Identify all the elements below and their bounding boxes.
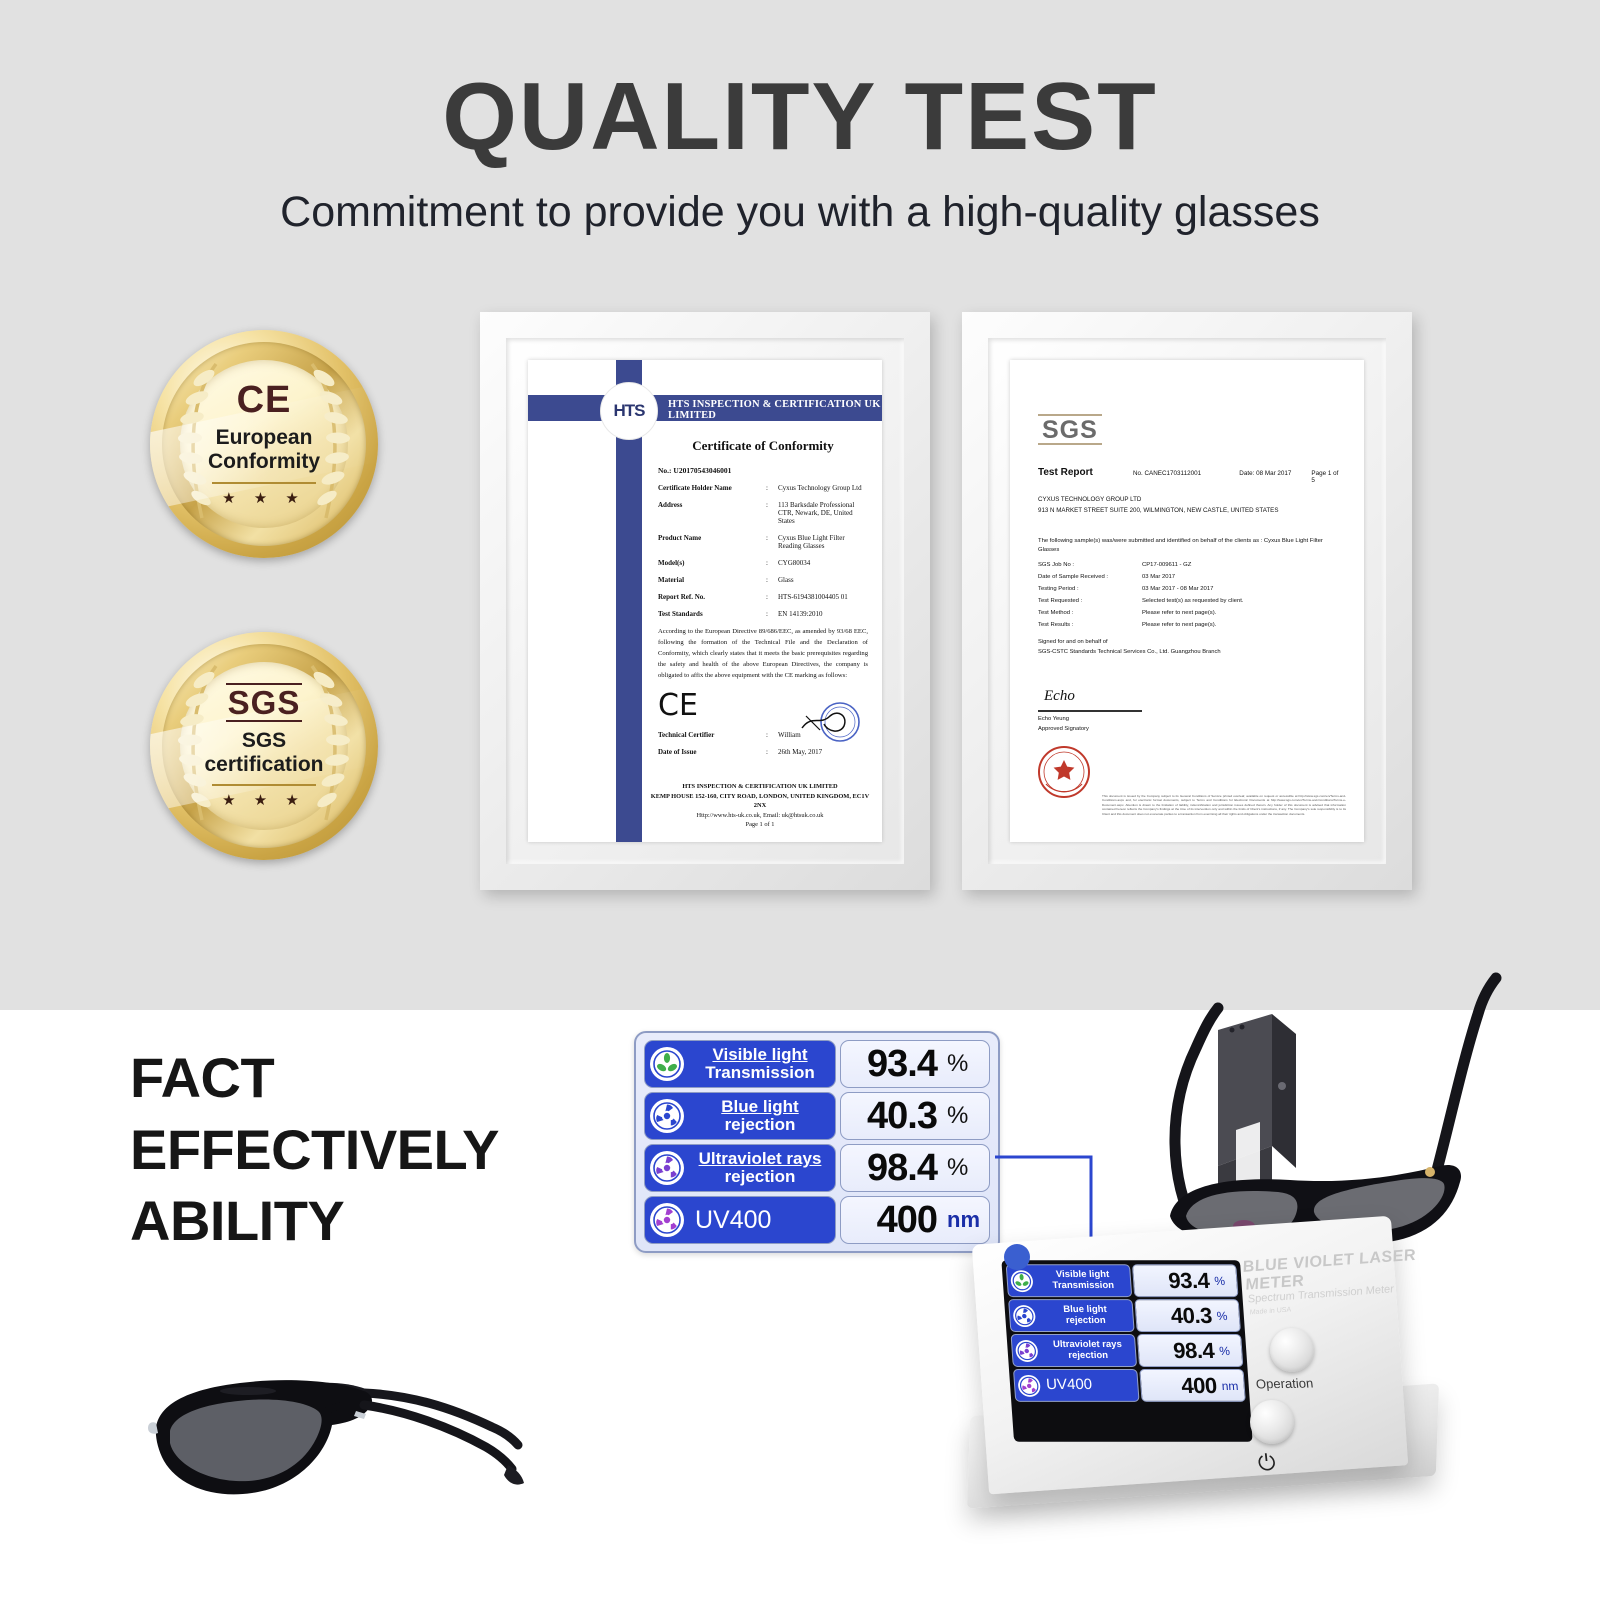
device-unit: %	[1219, 1344, 1238, 1358]
hts-number: No.: U20170543046001	[658, 466, 868, 475]
field-colon: :	[766, 484, 778, 492]
ce-badge-title: European Conformity	[182, 426, 347, 473]
field-colon: :	[766, 748, 778, 756]
sgs-field-row: Testing Period : 03 Mar 2017 - 08 Mar 20…	[1038, 586, 1342, 592]
hts-seal-icon: HTS	[600, 382, 658, 440]
top-section: QUALITY TEST Commitment to provide you w…	[0, 0, 1600, 1010]
sgs-logo-icon: SGS	[1038, 414, 1102, 445]
fact-line-3: ABILITY	[130, 1185, 499, 1257]
field-colon: :	[766, 534, 778, 550]
field-value: Cyxus Blue Light Filter Reading Glasses	[778, 534, 868, 550]
field-value: Cyxus Technology Group Ltd	[778, 484, 868, 492]
field-key: Date of Issue	[658, 748, 766, 756]
device-unit: nm	[1221, 1378, 1240, 1392]
device-label: Ultraviolet rays rejection	[1011, 1334, 1138, 1367]
field-colon: :	[766, 593, 778, 601]
readout-label-text: Blue light rejection	[689, 1098, 835, 1134]
device-label: UV400	[1013, 1369, 1140, 1402]
readout-label: UV400	[644, 1196, 836, 1244]
field-value: 03 Mar 2017 - 08 Mar 2017	[1142, 586, 1342, 592]
label-line-2: Transmission	[689, 1064, 831, 1082]
sgs-body: SGS Test Report No. CANEC1703112001 Date…	[1038, 414, 1342, 628]
footer-line: Http://www.hts-uk.co.uk, Email: uk@htsuk…	[648, 811, 872, 821]
device-value-cell: 93.4 %	[1132, 1264, 1239, 1297]
field-key: Test Requested :	[1038, 598, 1142, 604]
sgs-field-row: Test Requested : Selected test(s) as req…	[1038, 598, 1342, 604]
uv-ray-icon	[1015, 1340, 1039, 1362]
readout-row-blue-light: Blue light rejection 40.3 %	[644, 1092, 990, 1140]
sgs-report-frame: SGS Test Report No. CANEC1703112001 Date…	[962, 312, 1412, 890]
signature-stamp-icon	[800, 696, 864, 750]
device-label-text: Ultraviolet rays rejection	[1040, 1340, 1136, 1360]
hts-field-row: Material : Glass	[658, 576, 868, 584]
badge-divider	[212, 784, 316, 786]
frame-bevel: SGS Test Report No. CANEC1703112001 Date…	[988, 338, 1386, 864]
field-value: HTS-6194381004405 01	[778, 593, 868, 601]
sgs-report-paper: SGS Test Report No. CANEC1703112001 Date…	[1010, 360, 1364, 842]
readout-row-uv400: UV400 400 nm	[644, 1196, 990, 1244]
sgs-report-header: Test Report No. CANEC1703112001 Date: 08…	[1038, 467, 1342, 484]
label-line-2: Transmission	[1036, 1281, 1131, 1291]
readout-label: Blue light rejection	[644, 1092, 836, 1140]
field-value: 113 Barksdale Professional CTR, Newark, …	[778, 501, 868, 525]
device-label: Visible light Transmission	[1006, 1264, 1133, 1297]
readout-label-text: UV400	[689, 1207, 835, 1234]
footer-page: Page 1 of 1	[648, 820, 872, 830]
device-value: 98.4	[1172, 1338, 1215, 1364]
field-colon: :	[766, 501, 778, 525]
device-label-text: UV400	[1043, 1377, 1138, 1393]
field-key: Address	[658, 501, 766, 525]
glasses-product-photo	[120, 1335, 540, 1560]
badge-stars: ★ ★ ★	[222, 489, 306, 507]
field-key: Product Name	[658, 534, 766, 550]
field-value: Glass	[778, 576, 868, 584]
field-key: Technical Certifier	[658, 731, 766, 739]
signed-line: Signed for and on behalf of	[1038, 638, 1342, 648]
red-seal-stamp-icon	[1036, 744, 1092, 800]
fact-line-1: FACT	[130, 1042, 499, 1114]
blue-ray-icon	[650, 1099, 684, 1133]
sgs-intro: The following sample(s) was/were submitt…	[1038, 537, 1342, 556]
readout-value: 93.4	[867, 1045, 937, 1083]
device-value-cell: 98.4 %	[1137, 1334, 1244, 1367]
field-key: Test Results :	[1038, 622, 1142, 628]
sgs-field-row: Test Results : Please refer to next page…	[1038, 622, 1342, 628]
field-key: Certificate Holder Name	[658, 484, 766, 492]
client-address: 913 N MARKET STREET SUITE 200, WILMINGTO…	[1038, 506, 1342, 517]
device-row-uv400: UV400 400 nm	[1013, 1369, 1246, 1402]
readout-value: 40.3	[867, 1097, 937, 1135]
uv400-icon	[650, 1203, 684, 1237]
hts-footer: HTS INSPECTION & CERTIFICATION UK LIMITE…	[648, 782, 872, 830]
readout-label-text: Visible light Transmission	[689, 1046, 835, 1082]
sgs-client: CYXUS TECHNOLOGY GROUP LTD 913 N MARKET …	[1038, 495, 1342, 517]
leaf-icon	[1010, 1270, 1034, 1292]
signed-entity: SGS-CSTC Standards Technical Services Co…	[1038, 648, 1342, 658]
label-line-1: Blue light	[1038, 1305, 1133, 1315]
hts-certificate-frame: HTS INSPECTION & CERTIFICATION UK LIMITE…	[480, 312, 930, 890]
readout-label: Ultraviolet rays rejection	[644, 1144, 836, 1192]
field-key: Material	[658, 576, 766, 584]
hts-header-bar-text: HTS INSPECTION & CERTIFICATION UK LIMITE…	[668, 399, 882, 421]
uv-ray-icon	[650, 1151, 684, 1185]
signature-line	[1038, 710, 1142, 712]
field-key: Test Standards	[658, 610, 766, 618]
device-value: 400	[1180, 1372, 1217, 1398]
hts-field-row: Test Standards : EN 14139:2010	[658, 610, 868, 618]
signer-role: Approved Signatory	[1038, 725, 1342, 734]
operation-button[interactable]	[1270, 1328, 1314, 1372]
signer-info: Echo Yeung Approved Signatory	[1038, 715, 1342, 734]
device-screen: Visible light Transmission 93.4 %	[1001, 1260, 1252, 1442]
handwritten-signature: Echo	[1038, 684, 1342, 710]
hts-certificate-paper: HTS INSPECTION & CERTIFICATION UK LIMITE…	[528, 360, 882, 842]
field-colon: :	[766, 610, 778, 618]
readout-row-visible-light: Visible light Transmission 93.4 %	[644, 1040, 990, 1088]
device-unit: %	[1216, 1309, 1235, 1323]
field-colon: :	[766, 576, 778, 584]
footer-line: KEMP HOUSE 152-160, CITY ROAD, LONDON, U…	[648, 792, 872, 811]
readout-label-text: Ultraviolet rays rejection	[689, 1150, 835, 1186]
field-key: Testing Period :	[1038, 586, 1142, 592]
field-key: Date of Sample Received :	[1038, 574, 1142, 580]
field-value: Please refer to next page(s).	[1142, 622, 1342, 628]
field-key: SGS Job No :	[1038, 562, 1142, 568]
field-value: CYG80034	[778, 559, 868, 567]
hts-field-row: Address : 113 Barksdale Professional CTR…	[658, 501, 868, 525]
device-row-visible-light: Visible light Transmission 93.4 %	[1006, 1264, 1239, 1297]
field-colon: :	[766, 731, 778, 739]
ce-badge: CE European Conformity ★ ★ ★	[150, 330, 378, 558]
label-line-2: rejection	[1041, 1351, 1136, 1361]
client-name: CYXUS TECHNOLOGY GROUP LTD	[1038, 495, 1342, 506]
field-value: Please refer to next page(s).	[1142, 610, 1342, 616]
page-subtitle: Commitment to provide you with a high-qu…	[0, 188, 1600, 237]
sgs-badge-title: SGS certification	[182, 729, 347, 776]
field-key: Test Method :	[1038, 610, 1142, 616]
field-value: EN 14139:2010	[778, 610, 868, 618]
label-line-2: rejection	[1038, 1316, 1133, 1326]
device-row-blue-light: Blue light rejection 40.3 %	[1008, 1299, 1241, 1332]
blue-ray-icon	[1012, 1305, 1036, 1327]
report-date: Date: 08 Mar 2017	[1239, 470, 1311, 477]
field-value: CP17-009611 - GZ	[1142, 562, 1342, 568]
sgs-field-row: Test Method : Please refer to next page(…	[1038, 610, 1342, 616]
device-label-text: Blue light rejection	[1038, 1305, 1134, 1325]
hts-field-row: Product Name : Cyxus Blue Light Filter R…	[658, 534, 868, 550]
device-brand-label: BLUE VIOLET LASER METER Spectrum Transmi…	[1241, 1246, 1440, 1317]
device-value: 40.3	[1170, 1303, 1213, 1329]
field-value: Selected test(s) as requested by client.	[1142, 598, 1342, 604]
hts-title: Certificate of Conformity	[658, 438, 868, 454]
label-line-1: Ultraviolet rays	[1040, 1340, 1135, 1350]
readout-value: 400	[877, 1201, 937, 1239]
field-key: Model(s)	[658, 559, 766, 567]
label-line-1: Visible light	[689, 1046, 831, 1064]
label-line-2: rejection	[689, 1116, 831, 1134]
readout-row-uv-rejection: Ultraviolet rays rejection 98.4 %	[644, 1144, 990, 1192]
field-key: Report Ref. No.	[658, 593, 766, 601]
frame-bevel: HTS INSPECTION & CERTIFICATION UK LIMITE…	[506, 338, 904, 864]
device-value-cell: 400 nm	[1139, 1369, 1246, 1402]
sgs-field-row: SGS Job No : CP17-009611 - GZ	[1038, 562, 1342, 568]
callout-anchor-dot	[1004, 1244, 1030, 1270]
operation-button-label: Operation	[1255, 1376, 1314, 1392]
sgs-logo: SGS	[226, 683, 303, 722]
hts-field-row: Model(s) : CYG80034	[658, 559, 868, 567]
report-page: Page 1 of 5	[1311, 470, 1342, 484]
label-line-1: Blue light	[689, 1098, 831, 1116]
device-value: 93.4	[1167, 1268, 1210, 1294]
readout-label: Visible light Transmission	[644, 1040, 836, 1088]
field-colon: :	[766, 559, 778, 567]
ce-logo: CE	[237, 381, 292, 419]
fact-heading: FACT EFFECTIVELY ABILITY	[130, 1042, 499, 1257]
hts-field-row: Certificate Holder Name : Cyxus Technolo…	[658, 484, 868, 492]
device-label: Blue light rejection	[1008, 1299, 1135, 1332]
sgs-fineprint: This document is issued by the Company s…	[1102, 794, 1346, 816]
label-line-2: rejection	[689, 1168, 831, 1186]
fact-line-2: EFFECTIVELY	[130, 1114, 499, 1186]
ce-badge-content: CE European Conformity ★ ★ ★	[150, 330, 378, 558]
power-icon: ⏻	[1257, 1450, 1277, 1476]
laser-meter-device: BLUE VIOLET LASER METER Spectrum Transmi…	[940, 930, 1600, 1600]
device-label-text: Visible light Transmission	[1035, 1270, 1131, 1290]
footer-line: HTS INSPECTION & CERTIFICATION UK LIMITE…	[648, 782, 872, 792]
report-title: Test Report	[1038, 467, 1133, 478]
device-value-cell: 40.3 %	[1134, 1299, 1241, 1332]
sgs-badge: SGS SGS certification ★ ★ ★	[150, 632, 378, 860]
page-title: QUALITY TEST	[0, 62, 1600, 172]
device-row-uv-rejection: Ultraviolet rays rejection 98.4 %	[1011, 1334, 1244, 1367]
field-value: 03 Mar 2017	[1142, 574, 1342, 580]
signer-name: Echo Yeung	[1038, 715, 1342, 724]
uv400-icon	[1017, 1374, 1041, 1396]
label-line-1: Visible light	[1035, 1270, 1130, 1280]
leaf-icon	[650, 1047, 684, 1081]
hts-field-row: Report Ref. No. : HTS-6194381004405 01	[658, 593, 868, 601]
badge-divider	[212, 482, 316, 484]
device-unit: %	[1214, 1274, 1233, 1288]
report-number: No. CANEC1703112001	[1133, 470, 1239, 477]
power-button[interactable]	[1250, 1400, 1294, 1444]
hts-paragraph: According to the European Directive 89/6…	[658, 627, 868, 681]
readout-value: 98.4	[867, 1149, 937, 1187]
badge-stars: ★ ★ ★	[222, 791, 306, 809]
sgs-badge-content: SGS SGS certification ★ ★ ★	[150, 632, 378, 860]
label-line-1: Ultraviolet rays	[689, 1150, 831, 1168]
sgs-field-row: Date of Sample Received : 03 Mar 2017	[1038, 574, 1342, 580]
sgs-signature-block: Signed for and on behalf of SGS-CSTC Sta…	[1038, 638, 1342, 734]
